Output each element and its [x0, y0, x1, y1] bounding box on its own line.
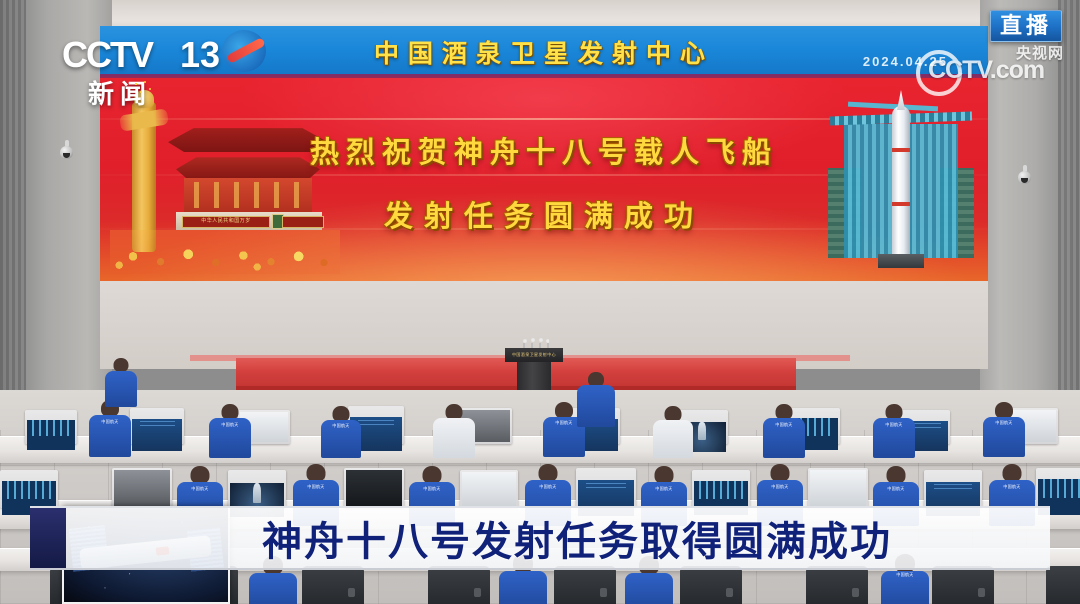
workstation-monitor: [25, 410, 77, 444]
venue-header-text: 中国酒泉卫星发射中心: [374, 34, 714, 70]
workstation-monitor: [460, 470, 518, 508]
standing-staff-member: [576, 372, 616, 426]
security-camera-icon: [1018, 165, 1031, 185]
staff-member: 中国航天: [88, 400, 132, 456]
banner-red-field: 中华人民共和国万岁 热烈: [100, 78, 988, 281]
workstation-monitor: [808, 468, 868, 508]
staff-member: 中国航天: [762, 404, 806, 456]
banner-line-2: 发射任务圆满成功: [384, 193, 704, 235]
news-stars-icon: [132, 80, 158, 102]
workstation-monitor: [692, 470, 750, 508]
office-chair: [428, 566, 490, 604]
banner-slogan: 热烈祝贺神舟十八号载人飞船 发射任务圆满成功: [100, 78, 988, 281]
workstation-monitor: [576, 468, 636, 508]
workstation-monitor: [1036, 468, 1080, 508]
broadcast-screen: 中国酒泉卫星发射中心 中华: [0, 0, 1080, 604]
workstation-monitor: [344, 468, 404, 508]
workstation-monitor: [112, 468, 172, 508]
workstation-monitor: [0, 470, 58, 508]
staff-member: [432, 404, 476, 456]
staff-member: 中国航天: [320, 406, 362, 456]
staff-member: [652, 406, 694, 456]
staff-member: 中国航天: [208, 404, 252, 456]
banner-line-1: 热烈祝贺神舟十八号载人飞船: [310, 129, 778, 171]
office-chair: [932, 566, 994, 604]
caption-headline: 神舟十八号发射任务取得圆满成功: [262, 508, 892, 568]
cctv-wordmark: CCTV: [62, 34, 152, 76]
cctv-swoosh-icon: [222, 30, 266, 72]
office-chair: [680, 566, 742, 604]
office-chair: [302, 566, 364, 604]
office-chair: [554, 566, 616, 604]
standing-staff-member: [104, 358, 138, 406]
lower-third-caption: 神舟十八号发射任务取得圆满成功: [30, 506, 1050, 570]
watermark-cn-text: 央视网: [1016, 42, 1064, 63]
speaker-podium: 中国酒泉卫星发射中心: [505, 338, 563, 394]
caption-left-tab: [30, 508, 66, 568]
security-camera-icon: [60, 140, 73, 160]
office-chair: [806, 566, 868, 604]
staff-member: 中国航天: [872, 404, 916, 456]
cctv-com-watermark: CCTV.com 央视网: [916, 48, 1066, 90]
workstation-monitor: [924, 470, 982, 508]
live-badge: 直播: [990, 10, 1062, 42]
staff-member: 中国航天: [982, 402, 1026, 456]
podium-plate-text: 中国酒泉卫星发射中心: [505, 348, 563, 362]
workstation-monitor: [228, 470, 286, 508]
channel-number: 13: [180, 34, 220, 76]
channel-logo: CCTV 13 新闻: [62, 28, 252, 108]
office-chair: [1046, 566, 1080, 604]
workstation-monitor: [130, 408, 184, 444]
